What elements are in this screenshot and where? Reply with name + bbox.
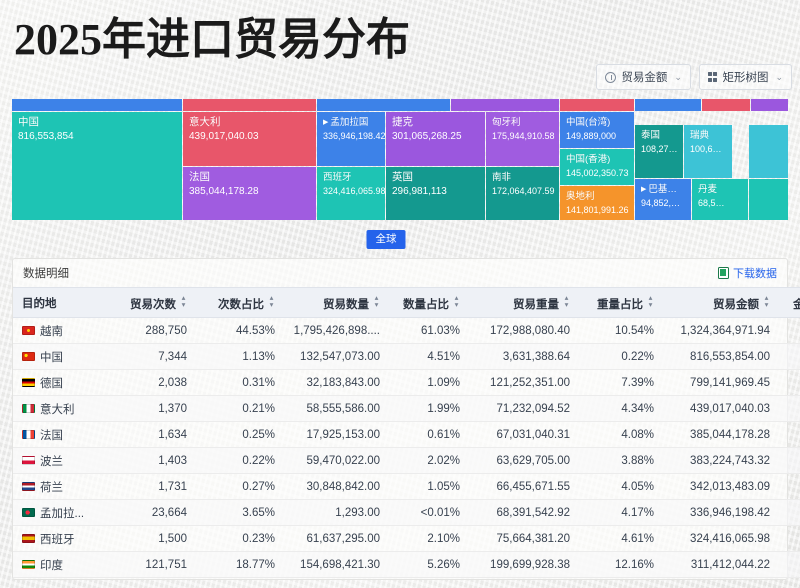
destination-label: 西班牙 xyxy=(40,531,75,547)
cell-weight-pct: 12.16% xyxy=(579,552,663,578)
treemap-tile-label: 中国 xyxy=(18,116,176,129)
trade-data-table: 目的地贸易次数▴▾次数占比▴▾贸易数量▴▾数量占比▴▾贸易重量▴▾重量占比▴▾贸… xyxy=(13,287,800,578)
cell-weight-pct: 10.54% xyxy=(579,318,663,344)
treemap-tile[interactable]: 南非172,064,407.59 xyxy=(486,167,559,220)
cell-amount: 342,013,483.09 xyxy=(663,474,779,500)
cell-amount: 311,412,044.22 xyxy=(663,552,779,578)
country-flag-icon xyxy=(22,352,35,361)
cell-trade-count: 7,344 xyxy=(116,344,196,370)
treemap-tile-label: ▶孟加拉国 xyxy=(323,116,379,129)
table-header-row: 目的地贸易次数▴▾次数占比▴▾贸易数量▴▾数量占比▴▾贸易重量▴▾重量占比▴▾贸… xyxy=(13,288,800,318)
table-row[interactable]: 意大利1,3700.21%58,555,586.001.99%71,232,09… xyxy=(13,396,800,422)
treemap-tile-value: 108,27… xyxy=(641,143,677,156)
metric-selector[interactable]: 贸易金额 ⌄ xyxy=(596,64,691,90)
table-column-header[interactable]: 贸易数量▴▾ xyxy=(284,288,389,318)
treemap-tile-label: 中国(台湾) xyxy=(566,116,628,129)
cell-destination: 西班牙 xyxy=(13,526,116,552)
cell-trade-count: 121,751 xyxy=(116,552,196,578)
cell-count-pct: 1.13% xyxy=(196,344,284,370)
country-flag-icon xyxy=(22,456,35,465)
cell-destination: 孟加拉... xyxy=(13,500,116,526)
table-column-header-label: 数量占比 xyxy=(403,299,449,311)
cell-trade-count: 288,750 xyxy=(116,318,196,344)
data-detail-panel: 数据明细 下载数据 目的地贸易次数▴▾次数占比▴▾贸易数量▴▾数量占比▴▾贸易重… xyxy=(12,258,788,580)
treemap-tile-value: 145,002,350.73 xyxy=(566,167,628,180)
cell-amount-pct: 3.28% xyxy=(779,526,800,552)
cell-quantity-pct: 1.09% xyxy=(389,370,469,396)
cell-destination: 德国 xyxy=(13,370,116,396)
country-flag-icon xyxy=(22,430,35,439)
cell-count-pct: 3.65% xyxy=(196,500,284,526)
treemap-tile[interactable]: 捷克301,065,268.25 xyxy=(386,112,485,166)
excel-file-icon xyxy=(718,267,729,279)
cell-destination: 荷兰 xyxy=(13,474,116,500)
treemap-tile[interactable]: 法国385,044,178.28 xyxy=(183,167,316,220)
treemap-tile-label: 中国(香港) xyxy=(566,153,628,166)
cell-amount: 383,224,743.32 xyxy=(663,448,779,474)
cell-quantity-pct: 0.61% xyxy=(389,422,469,448)
treemap-tile[interactable]: 意大利439,017,040.03 xyxy=(183,112,316,166)
treemap-tile-label: 奥地利 xyxy=(566,190,628,203)
treemap-tile[interactable]: 中国(台湾)149,889,000 xyxy=(560,112,634,148)
cell-amount-pct: 3.41% xyxy=(779,500,800,526)
treemap-tile-value: 439,017,040.03 xyxy=(189,130,310,143)
treemap-tile-value: 816,553,854 xyxy=(18,130,176,143)
treemap-chart: 中国816,553,854意大利439,017,040.03法国385,044,… xyxy=(12,99,788,220)
table-column-header-label: 贸易金额 xyxy=(713,299,759,311)
cell-weight-pct: 0.22% xyxy=(579,344,663,370)
cell-amount: 1,324,364,971.94 xyxy=(663,318,779,344)
sort-toggle-icon[interactable]: ▴▾ xyxy=(180,294,187,308)
cell-count-pct: 18.77% xyxy=(196,552,284,578)
table-column-header[interactable]: 次数占比▴▾ xyxy=(196,288,284,318)
chevron-down-icon: ⌄ xyxy=(674,72,682,83)
sort-toggle-icon[interactable]: ▴▾ xyxy=(453,294,460,308)
treemap-strip[interactable] xyxy=(183,99,316,111)
cell-weight: 75,664,381.20 xyxy=(469,526,579,552)
cell-trade-count: 1,731 xyxy=(116,474,196,500)
table-column-header-label: 贸易次数 xyxy=(130,299,176,311)
cell-weight: 63,629,705.00 xyxy=(469,448,579,474)
table-column-header-label: 金额占比 xyxy=(793,299,800,311)
treemap-tile-value: 385,044,178.28 xyxy=(189,185,310,198)
country-flag-icon xyxy=(22,508,35,517)
cell-amount: 324,416,065.98 xyxy=(663,526,779,552)
cell-weight-pct: 4.17% xyxy=(579,500,663,526)
treemap-tile-value: 94,852,… xyxy=(641,197,685,210)
treemap-strip[interactable] xyxy=(451,99,559,111)
cell-weight-pct: 4.34% xyxy=(579,396,663,422)
table-column-header-label: 贸易重量 xyxy=(513,299,559,311)
destination-label: 孟加拉... xyxy=(40,505,84,521)
table-column-header-label: 目的地 xyxy=(22,298,57,310)
cell-trade-count: 23,664 xyxy=(116,500,196,526)
info-circle-icon xyxy=(605,72,616,83)
cell-amount: 385,044,178.28 xyxy=(663,422,779,448)
chart-type-selector[interactable]: 矩形树图 ⌄ xyxy=(699,64,792,90)
treemap-tile-value: 141,801,991.26 xyxy=(566,204,628,217)
table-column-header[interactable]: 贸易次数▴▾ xyxy=(116,288,196,318)
destination-label: 荷兰 xyxy=(40,479,63,495)
treemap-tile-value: 175,944,910.58 xyxy=(492,130,553,143)
destination-label: 波兰 xyxy=(40,453,63,469)
cell-trade-count: 1,370 xyxy=(116,396,196,422)
treemap-tile-label: 瑞典 xyxy=(690,129,726,142)
cell-weight: 66,455,671.55 xyxy=(469,474,579,500)
cell-quantity: 154,698,421.30 xyxy=(284,552,389,578)
cell-weight: 71,232,094.52 xyxy=(469,396,579,422)
table-row[interactable]: 印度121,75118.77%154,698,421.305.26%199,69… xyxy=(13,552,800,578)
cell-weight-pct: 4.08% xyxy=(579,422,663,448)
chart-controls: 贸易金额 ⌄ 矩形树图 ⌄ xyxy=(596,64,792,90)
table-column-header[interactable]: 贸易金额▴▾ xyxy=(663,288,779,318)
treemap-tile-label: 英国 xyxy=(392,171,479,184)
treemap-tile[interactable]: 匈牙利175,944,910.58 xyxy=(486,112,559,166)
treemap-tile-label: 泰国 xyxy=(641,129,677,142)
treemap-tile[interactable]: 泰国108,27… xyxy=(635,125,683,178)
caret-right-icon: ▶ xyxy=(641,186,646,193)
cell-amount: 816,553,854.00 xyxy=(663,344,779,370)
treemap-tile[interactable]: 奥地利141,801,991.26 xyxy=(560,186,634,220)
treemap-strip[interactable] xyxy=(560,99,634,111)
treemap-strip[interactable] xyxy=(635,99,701,111)
table-row[interactable]: 越南288,75044.53%1,795,426,898....61.03%17… xyxy=(13,318,800,344)
treemap-tile-label: 西班牙 xyxy=(323,171,379,184)
country-flag-icon xyxy=(22,534,35,543)
table-column-header-label: 重量占比 xyxy=(597,299,643,311)
treemap-tile-partial[interactable] xyxy=(749,125,788,178)
cell-quantity: 61,637,295.00 xyxy=(284,526,389,552)
cell-quantity: 17,925,153.00 xyxy=(284,422,389,448)
treemap-tile[interactable]: ▶孟加拉国336,946,198.42 xyxy=(317,112,385,166)
sort-toggle-icon[interactable]: ▴▾ xyxy=(373,294,380,308)
cell-weight: 199,699,928.38 xyxy=(469,552,579,578)
cell-destination: 法国 xyxy=(13,422,116,448)
treemap-tile[interactable]: 西班牙324,416,065.98 xyxy=(317,167,385,220)
cell-count-pct: 0.27% xyxy=(196,474,284,500)
table-body: 越南288,75044.53%1,795,426,898....61.03%17… xyxy=(13,318,800,578)
table-column-header-label: 次数占比 xyxy=(218,299,264,311)
treemap-tile[interactable]: 瑞典100,6… xyxy=(684,125,732,178)
sort-toggle-icon[interactable]: ▴▾ xyxy=(647,294,654,308)
table-column-header[interactable]: 金额占比▴▾ xyxy=(779,288,800,318)
cell-quantity-pct: 5.26% xyxy=(389,552,469,578)
treemap-tile-label: 丹麦 xyxy=(698,183,742,196)
cell-quantity-pct: 1.99% xyxy=(389,396,469,422)
cell-quantity-pct: 1.05% xyxy=(389,474,469,500)
cell-weight-pct: 3.88% xyxy=(579,448,663,474)
treemap-tile-label: 南非 xyxy=(492,171,553,184)
table-row[interactable]: 德国2,0380.31%32,183,843.001.09%121,252,35… xyxy=(13,370,800,396)
cell-destination: 波兰 xyxy=(13,448,116,474)
treemap-tile-value: 68,5… xyxy=(698,197,742,210)
cell-weight-pct: 4.05% xyxy=(579,474,663,500)
cell-count-pct: 0.22% xyxy=(196,448,284,474)
cell-quantity-pct: 2.02% xyxy=(389,448,469,474)
download-data-button[interactable]: 下载数据 xyxy=(718,265,777,281)
panel-title: 数据明细 xyxy=(23,265,69,281)
cell-trade-count: 1,403 xyxy=(116,448,196,474)
cell-count-pct: 44.53% xyxy=(196,318,284,344)
destination-label: 德国 xyxy=(40,375,63,391)
table-column-header[interactable]: 贸易重量▴▾ xyxy=(469,288,579,318)
cell-destination: 印度 xyxy=(13,552,116,578)
treemap-strip[interactable] xyxy=(12,99,182,111)
cell-quantity: 30,848,842.00 xyxy=(284,474,389,500)
table-column-header: 目的地 xyxy=(13,288,116,318)
treemap-tile-value: 336,946,198.42 xyxy=(323,130,379,143)
metric-selector-label: 贸易金额 xyxy=(621,69,667,85)
cell-weight-pct: 7.39% xyxy=(579,370,663,396)
treemap-tile-label: 法国 xyxy=(189,171,310,184)
treemap-tile-value: 296,981,113 xyxy=(392,185,479,198)
cell-quantity-pct: 4.51% xyxy=(389,344,469,370)
cell-quantity-pct: 61.03% xyxy=(389,318,469,344)
country-flag-icon xyxy=(22,326,35,335)
panel-header: 数据明细 下载数据 xyxy=(13,259,787,287)
treemap-tile-partial[interactable] xyxy=(749,179,788,220)
cell-count-pct: 0.31% xyxy=(196,370,284,396)
treemap-tile-label: 匈牙利 xyxy=(492,116,553,129)
table-row[interactable]: 西班牙1,5000.23%61,637,295.002.10%75,664,38… xyxy=(13,526,800,552)
country-flag-icon xyxy=(22,404,35,413)
treemap-tile-value: 301,065,268.25 xyxy=(392,130,479,143)
treemap-tile-label: ▶巴基… xyxy=(641,183,685,196)
destination-label: 中国 xyxy=(40,349,63,365)
cell-weight: 3,631,388.64 xyxy=(469,344,579,370)
treemap-tile-value: 149,889,000 xyxy=(566,130,628,143)
cell-amount-pct: 4.44% xyxy=(779,396,800,422)
cell-amount-pct: 3.15% xyxy=(779,552,800,578)
cell-destination: 意大利 xyxy=(13,396,116,422)
table-column-header[interactable]: 数量占比▴▾ xyxy=(389,288,469,318)
chart-type-selector-label: 矩形树图 xyxy=(722,69,768,85)
treemap-tile-value: 172,064,407.59 xyxy=(492,185,553,198)
country-flag-icon xyxy=(22,560,35,569)
page-title: 2025年进口贸易分布 xyxy=(14,14,410,66)
chevron-down-icon: ⌄ xyxy=(775,72,783,83)
destination-label: 法国 xyxy=(40,427,63,443)
download-data-label: 下载数据 xyxy=(733,265,777,281)
cell-amount-pct: 3.90% xyxy=(779,422,800,448)
treemap-tile-value: 100,6… xyxy=(690,143,726,156)
sort-toggle-icon[interactable]: ▴▾ xyxy=(268,294,275,308)
cell-quantity: 1,293.00 xyxy=(284,500,389,526)
cell-destination: 中国 xyxy=(13,344,116,370)
treemap-tile[interactable]: 英国296,981,113 xyxy=(386,167,485,220)
treemap-strip[interactable] xyxy=(317,99,450,111)
table-column-header-label: 贸易数量 xyxy=(323,299,369,311)
table-row[interactable]: 荷兰1,7310.27%30,848,842.001.05%66,455,671… xyxy=(13,474,800,500)
cell-count-pct: 0.23% xyxy=(196,526,284,552)
table-row[interactable]: 中国7,3441.13%132,547,073.004.51%3,631,388… xyxy=(13,344,800,370)
treemap-tile[interactable]: 丹麦68,5… xyxy=(692,179,748,220)
destination-label: 越南 xyxy=(40,323,63,339)
global-breadcrumb-button[interactable]: 全球 xyxy=(367,230,406,249)
cell-amount-pct: 13.41% xyxy=(779,318,800,344)
cell-quantity: 132,547,073.00 xyxy=(284,344,389,370)
cell-amount: 336,946,198.42 xyxy=(663,500,779,526)
cell-quantity-pct: <0.01% xyxy=(389,500,469,526)
treemap-tile-value: 324,416,065.98 xyxy=(323,185,379,198)
treemap-tile[interactable]: ▶巴基…94,852,… xyxy=(635,179,691,220)
cell-quantity-pct: 2.10% xyxy=(389,526,469,552)
cell-weight: 68,391,542.92 xyxy=(469,500,579,526)
table-column-header[interactable]: 重量占比▴▾ xyxy=(579,288,663,318)
treemap-strip[interactable] xyxy=(702,99,750,111)
cell-weight-pct: 4.61% xyxy=(579,526,663,552)
treemap-tile-label: 意大利 xyxy=(189,116,310,129)
cell-weight: 172,988,080.40 xyxy=(469,318,579,344)
cell-amount-pct: 3.88% xyxy=(779,448,800,474)
cell-quantity: 59,470,022.00 xyxy=(284,448,389,474)
cell-trade-count: 2,038 xyxy=(116,370,196,396)
cell-trade-count: 1,634 xyxy=(116,422,196,448)
table-row[interactable]: 法国1,6340.25%17,925,153.000.61%67,031,040… xyxy=(13,422,800,448)
cell-amount-pct: 3.46% xyxy=(779,474,800,500)
cell-amount: 799,141,969.45 xyxy=(663,370,779,396)
caret-right-icon: ▶ xyxy=(323,119,328,126)
cell-count-pct: 0.21% xyxy=(196,396,284,422)
treemap-tile[interactable]: 中国816,553,854 xyxy=(12,112,182,220)
cell-amount-pct: 8.09% xyxy=(779,370,800,396)
cell-weight: 67,031,040.31 xyxy=(469,422,579,448)
destination-label: 意大利 xyxy=(40,401,75,417)
treemap-tile[interactable]: 中国(香港)145,002,350.73 xyxy=(560,149,634,185)
grid-chart-icon xyxy=(708,72,718,82)
destination-label: 印度 xyxy=(40,557,63,573)
cell-weight: 121,252,351.00 xyxy=(469,370,579,396)
sort-toggle-icon[interactable]: ▴▾ xyxy=(563,294,570,308)
treemap-strip[interactable] xyxy=(751,99,788,111)
country-flag-icon xyxy=(22,378,35,387)
cell-destination: 越南 xyxy=(13,318,116,344)
table-row[interactable]: 波兰1,4030.22%59,470,022.002.02%63,629,705… xyxy=(13,448,800,474)
sort-toggle-icon[interactable]: ▴▾ xyxy=(763,294,770,308)
cell-trade-count: 1,500 xyxy=(116,526,196,552)
treemap-tile-label: 捷克 xyxy=(392,116,479,129)
country-flag-icon xyxy=(22,482,35,491)
cell-quantity: 58,555,586.00 xyxy=(284,396,389,422)
cell-count-pct: 0.25% xyxy=(196,422,284,448)
cell-quantity: 32,183,843.00 xyxy=(284,370,389,396)
cell-quantity: 1,795,426,898.... xyxy=(284,318,389,344)
cell-amount: 439,017,040.03 xyxy=(663,396,779,422)
cell-amount-pct: 8.27% xyxy=(779,344,800,370)
table-row[interactable]: 孟加拉...23,6643.65%1,293.00<0.01%68,391,54… xyxy=(13,500,800,526)
